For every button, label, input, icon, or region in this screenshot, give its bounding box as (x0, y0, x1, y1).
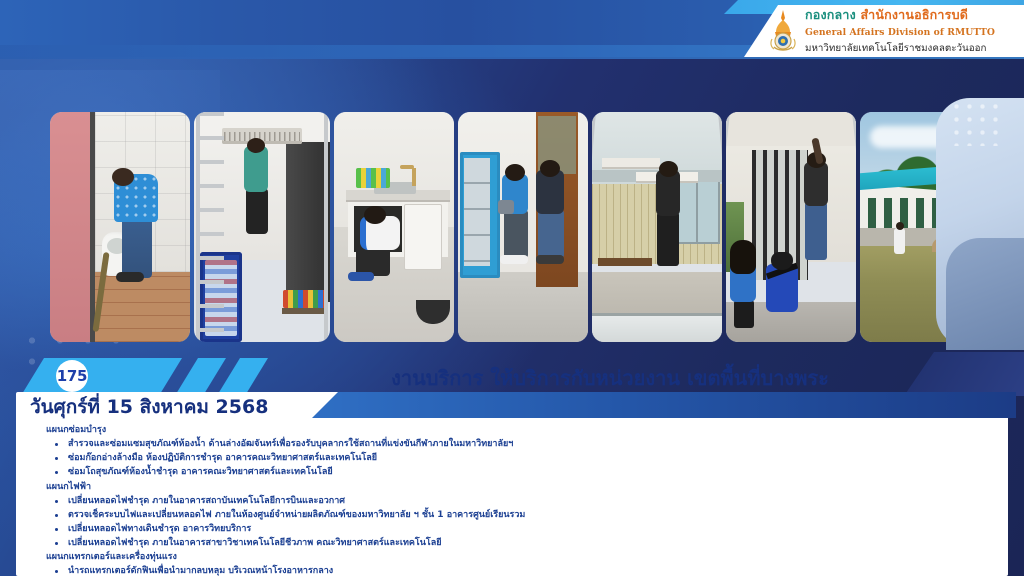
section-heading: แผนกแทรกเตอร์และเครื่องทุ่นแรง (46, 551, 996, 563)
royal-emblem-icon (768, 9, 798, 51)
gallery-photo-6 (726, 112, 856, 342)
list-item: เปลี่ยนหลอดไฟทางเดินชำรุด อาคารวิทยบริกา… (46, 523, 996, 535)
page-title: งานบริการ ให้บริการกับหน่วยงาน เขตพื้นที… (300, 362, 920, 394)
university-name-th: มหาวิทยาลัยเทคโนโลยีราชมงคลตะวันออก (805, 43, 986, 54)
chevron-accent-1 (22, 358, 182, 394)
list-item: สำรวจและซ่อมแซมสุขภัณฑ์ห้องน้ำ ด้านล่างอ… (46, 438, 996, 450)
list-item: เปลี่ยนหลอดไฟชำรุด ภายในอาคารสถาบันเทคโน… (46, 495, 996, 507)
issue-number-badge: 175 (56, 360, 88, 392)
gallery-photo-4 (458, 112, 588, 342)
date-bar-blue-stripe (312, 392, 1016, 418)
org-name-th: กองกลาง สำนักงานอธิการบดี (805, 7, 968, 22)
gallery-photo-3 (334, 112, 454, 342)
decorative-dots-right (950, 100, 1006, 146)
decorative-panel-right-lower (946, 238, 1024, 350)
list-item: ตรวจเช็คระบบไฟและเปลี่ยนหลอดไฟ ภายในห้อง… (46, 509, 996, 521)
section-heading: แผนกไฟฟ้า (46, 481, 996, 493)
gallery-photo-1 (50, 112, 190, 342)
gallery-photo-5 (592, 112, 722, 342)
gallery-photo-2 (194, 112, 330, 342)
organization-identity: กองกลาง สำนักงานอธิการบดี General Affair… (768, 7, 1018, 53)
date-bar: วันศุกร์ที่ 15 สิงหาคม 2568 (16, 392, 1016, 422)
list-item: นำรถแทรกเตอร์ดักฟินเพื่อนำมากลบหลุม บริเ… (46, 565, 996, 576)
section-heading: แผนกซ่อมบำรุง (46, 424, 996, 436)
section-block: แผนกซ่อมบำรุง สำรวจและซ่อมแซมสุขภัณฑ์ห้อ… (46, 424, 996, 479)
organization-text-block: กองกลาง สำนักงานอธิการบดี General Affair… (805, 6, 1018, 54)
org-name-en: General Affairs Division of RMUTTO (805, 27, 995, 38)
activity-list: แผนกซ่อมบำรุง สำรวจและซ่อมแซมสุขภัณฑ์ห้อ… (46, 424, 996, 576)
chevron-accent-3 (218, 358, 268, 394)
list-item: ซ่อมโถสุขภัณฑ์ห้องน้ำชำรุด อาคารคณะวิทยา… (46, 466, 996, 478)
publication-date: วันศุกร์ที่ 15 สิงหาคม 2568 (30, 392, 268, 422)
photo-gallery-strip (50, 112, 988, 342)
section-block: แผนกไฟฟ้า เปลี่ยนหลอดไฟชำรุด ภายในอาคารส… (46, 481, 996, 550)
chevron-accent-2 (176, 358, 226, 394)
list-item: เปลี่ยนหลอดไฟชำรุด ภายในอาคารสาขาวิชาเทค… (46, 537, 996, 549)
content-sheet: วันศุกร์ที่ 15 สิงหาคม 2568 แผนกซ่อมบำรุ… (16, 392, 1008, 576)
poster-canvas: กองกลาง สำนักงานอธิการบดี General Affair… (0, 0, 1024, 576)
list-item: ซ่อมก๊อกอ่างล้างมือ ห้องปฏิบัติการชำรุด … (46, 452, 996, 464)
section-block: แผนกแทรกเตอร์และเครื่องทุ่นแรง นำรถแทรกเ… (46, 551, 996, 576)
